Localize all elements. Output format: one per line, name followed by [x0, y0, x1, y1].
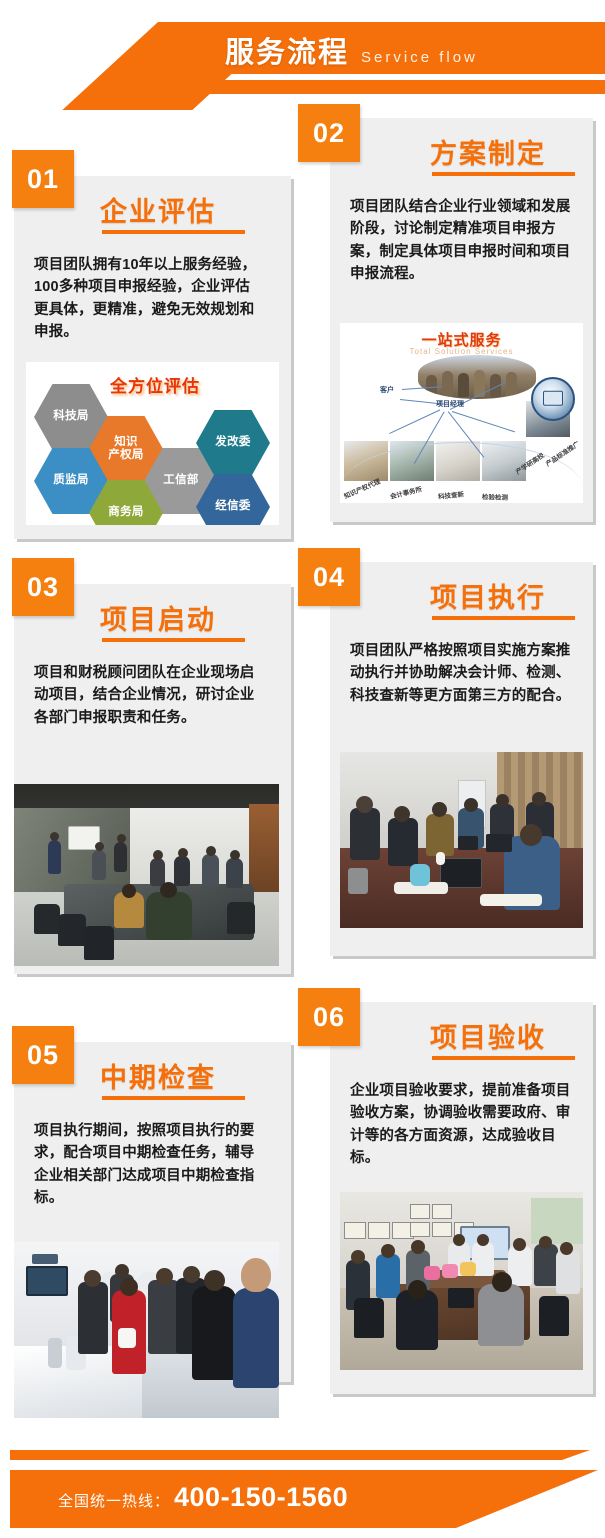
card-body-04: 项目团队严格按照项目实施方案推动执行并协助解决会计师、检测、科技查新等更方面第三…: [350, 640, 574, 707]
card-title-underline-06: [432, 1056, 575, 1060]
photo-large-conference-06: [340, 1192, 583, 1370]
step-card-01[interactable]: 企业评估 项目团队拥有10年以上服务经验，100多种项目申报经验，企业评估更具体…: [14, 176, 291, 539]
card-title-underline-03: [102, 638, 245, 642]
card-title-underline-02: [432, 172, 575, 176]
photo-showroom-visit-05: [14, 1242, 279, 1418]
step-badge-05: 05: [12, 1026, 74, 1084]
step-badge-03: 03: [12, 558, 74, 616]
page-title: 服务流程 Service flow: [225, 29, 478, 73]
card-body-03: 项目和财税顾问团队在企业现场启动项目，结合企业情况，研讨企业各部门申报职责和任务…: [34, 662, 260, 729]
card-body-01: 项目团队拥有10年以上服务经验，100多种项目申报经验，企业评估更具体，更精准，…: [34, 254, 260, 344]
photo-laptop-meeting-04: [340, 752, 583, 928]
step-badge-02: 02: [298, 104, 360, 162]
hex-diagram-01: 全方位评估 科技局 知识产权局 质监局 工信部 商务局 发改委 经信委: [26, 362, 279, 525]
one-stop-seal-icon: [531, 377, 575, 421]
page-title-en: Service flow: [361, 49, 478, 66]
one-stop-hero-photo: [418, 355, 536, 399]
step-card-06[interactable]: 项目验收 企业项目验收要求，提前准备项目验收方案，协调验收需要政府、审计等的各方…: [330, 1002, 593, 1394]
card-title-02: 方案制定: [430, 132, 546, 171]
step-card-04[interactable]: 项目执行 项目团队严格按照项目实施方案推动执行并协助解决会计师、检测、科技查新等…: [330, 562, 593, 956]
page-title-cn: 服务流程: [225, 29, 349, 71]
card-title-06: 项目验收: [430, 1016, 546, 1055]
one-stop-caption-3: 检验检测: [482, 491, 508, 502]
one-stop-caption-2: 科技查新: [437, 488, 464, 501]
card-title-underline-04: [432, 616, 575, 620]
photo-conference-room-03: [14, 784, 279, 966]
card-title-01: 企业评估: [100, 190, 216, 229]
step-card-05[interactable]: 中期检查 项目执行期间，按照项目执行的要求，配合项目中期检查任务，辅导企业相关部…: [14, 1042, 291, 1382]
footer-accent-stripe: [10, 1450, 590, 1460]
page-header: 服务流程 Service flow: [0, 0, 605, 110]
card-body-05: 项目执行期间，按照项目执行的要求，配合项目中期检查任务，辅导企业相关部门达成项目…: [34, 1120, 260, 1210]
page-footer: 全国统一热线： 400-150-1560: [0, 1410, 605, 1538]
card-body-02: 项目团队结合企业行业领域和发展阶段，讨论制定精准项目申报方案，制定具体项目申报时…: [350, 196, 574, 286]
card-title-underline-01: [102, 230, 245, 234]
card-body-06: 企业项目验收要求，提前准备项目验收方案，协调验收需要政府、审计等的各方面资源，达…: [350, 1080, 574, 1170]
card-title-04: 项目执行: [430, 576, 546, 615]
hotline-label: 全国统一热线：: [58, 1490, 170, 1511]
card-title-05: 中期检查: [100, 1056, 216, 1095]
one-stop-diagram-02: 一站式服务 Total Solution Services 客户 项目经理: [340, 323, 583, 503]
step-card-03[interactable]: 项目启动 项目和财税顾问团队在企业现场启动项目，结合企业情况，研讨企业各部门申报…: [14, 584, 291, 974]
step-badge-06: 06: [298, 988, 360, 1046]
one-stop-subtitle: Total Solution Services: [340, 347, 583, 356]
card-title-underline-05: [102, 1096, 245, 1100]
card-title-03: 项目启动: [100, 598, 216, 637]
step-card-02[interactable]: 方案制定 项目团队结合企业行业领域和发展阶段，讨论制定精准项目申报方案，制定具体…: [330, 118, 593, 522]
service-flow-poster: 服务流程 Service flow 企业评估 项目团队拥有10年以上服务经验，1…: [0, 0, 605, 1538]
step-badge-01: 01: [12, 150, 74, 208]
one-stop-node-customer: 客户: [380, 385, 394, 395]
header-accent-stripe: [92, 80, 605, 94]
one-stop-node-manager: 项目经理: [436, 399, 464, 409]
hex-diagram-title: 全方位评估: [110, 372, 200, 397]
hotline-number[interactable]: 400-150-1560: [174, 1482, 348, 1513]
step-badge-04: 04: [298, 548, 360, 606]
hotline: 全国统一热线： 400-150-1560: [58, 1482, 348, 1513]
